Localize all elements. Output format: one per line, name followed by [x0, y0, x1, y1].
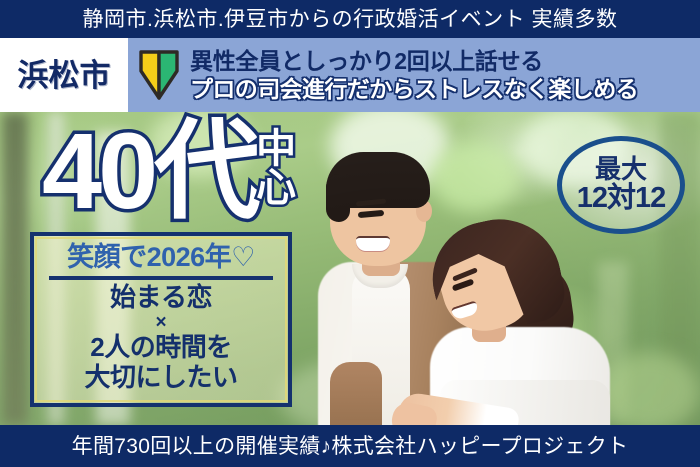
benefit-line-2: プロの司会進行だからストレスなく楽しめる [190, 77, 638, 101]
headline-sub-top: 中 [256, 130, 296, 169]
headline-sub-bottom: 心 [256, 169, 296, 208]
benefit-band: 異性全員としっかり2回以上話せる プロの司会進行だからストレスなく楽しめる [128, 38, 700, 112]
city-name-label: 浜松市 [18, 60, 111, 91]
capacity-badge-line-1: 最大 [595, 156, 647, 183]
capacity-badge: 最大 12対12 [557, 136, 685, 234]
benefit-line-1: 異性全員としっかり2回以上話せる [190, 49, 638, 73]
headline-sub-group: 中 心 [256, 130, 296, 208]
event-flyer: 静岡市.浜松市.伊豆市からの行政婚活イベント 実績多数 浜松市 異性全員としっか… [0, 0, 700, 467]
top-banner-text: 静岡市.浜松市.伊豆市からの行政婚活イベント 実績多数 [82, 9, 617, 30]
top-banner: 静岡市.浜松市.伊豆市からの行政婚活イベント 実績多数 [0, 0, 700, 38]
bottom-banner-text: 年間730回以上の開催実績♪株式会社ハッピープロジェクト [72, 436, 629, 457]
benefit-text-group: 異性全員としっかり2回以上話せる プロの司会進行だからストレスなく楽しめる [190, 49, 638, 100]
catchphrase-line-1: 始まる恋 [110, 283, 212, 312]
catchphrase-panel: 笑顔で2026年♡ 始まる恋 × 2人の時間を 大切にしたい [30, 232, 292, 407]
capacity-badge-line-2: 12対12 [577, 183, 666, 213]
catchphrase-divider [49, 276, 273, 280]
catchphrase-line-2: 2人の時間を [90, 333, 231, 362]
bottom-banner: 年間730回以上の開催実績♪株式会社ハッピープロジェクト [0, 425, 700, 467]
city-name-box: 浜松市 [0, 38, 128, 112]
shoshinsha-beginner-mark-icon [138, 49, 180, 101]
catchphrase-line-3: 大切にしたい [84, 363, 237, 392]
header-row: 浜松市 異性全員としっかり2回以上話せる プロの司会進行だからストレスなく楽しめ… [0, 38, 700, 112]
headline-group: 40代 中 心 [42, 120, 296, 223]
catchphrase-separator: × [155, 313, 166, 332]
catchphrase-title: 笑顔で2026年♡ [67, 243, 255, 271]
headline-age-range: 40代 [42, 120, 258, 223]
